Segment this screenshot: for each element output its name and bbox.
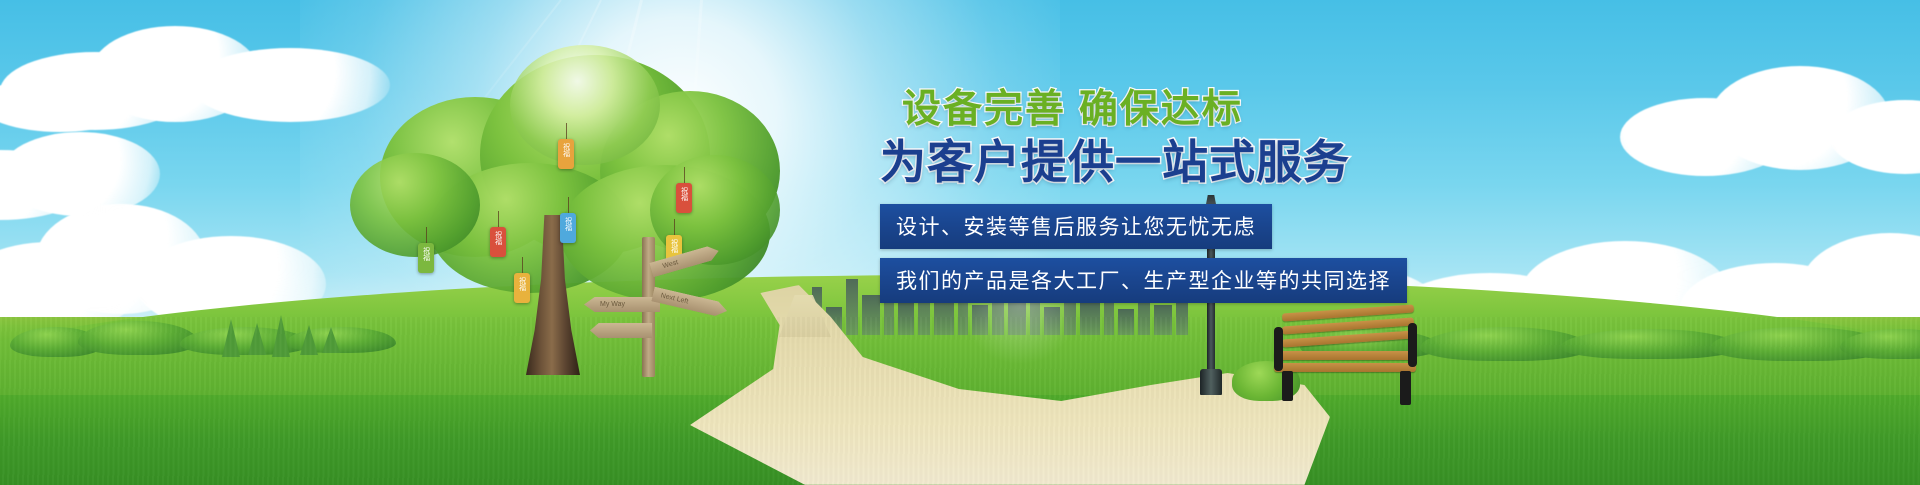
- wish-tag-label: 祝福: [494, 227, 501, 245]
- wish-tag: 祝福: [558, 139, 574, 169]
- lamp-base: [1200, 369, 1222, 395]
- cloud-right-upper: [1600, 60, 1920, 200]
- signpost-arm-west-label: West: [662, 259, 679, 270]
- wish-tag-label: 祝福: [422, 243, 429, 261]
- park-bench: [1268, 305, 1428, 405]
- signpost-arm-nextleft-label: Next Left: [660, 292, 689, 305]
- hero-banner: 祝福 祝福 祝福 祝福 祝福 祝福 祝福 West My Way Next Le…: [0, 0, 1920, 485]
- wish-tag-label: 祝福: [564, 213, 571, 231]
- headline-primary: 设备完善 确保达标: [902, 88, 1640, 133]
- grass-texture: [0, 317, 1920, 485]
- wish-tag: 祝福: [514, 273, 530, 303]
- headline-secondary: 为客户提供一站式服务: [880, 135, 1640, 190]
- subbar-service: 设计、安装等售后服务让您无忧无虑: [880, 204, 1272, 249]
- wish-tag: 祝福: [418, 243, 434, 273]
- subbar-customers: 我们的产品是各大工厂、生产型企业等的共同选择: [880, 258, 1407, 303]
- signpost-arm-myway-label: My Way: [600, 301, 625, 308]
- cloud-left-edge: [0, 120, 210, 230]
- banner-copy: 设备完善 确保达标 为客户提供一站式服务 设计、安装等售后服务让您无忧无虑 我们…: [880, 88, 1640, 303]
- signpost-arm-nextleft: Next Left: [651, 287, 728, 319]
- wish-tag-label: 祝福: [562, 139, 569, 157]
- wish-tag: 祝福: [490, 227, 506, 257]
- cloud-top-left: [0, 18, 400, 138]
- wish-tag-label: 祝福: [680, 183, 687, 201]
- signpost-arm-lower: [590, 323, 652, 338]
- wish-tag-label: 祝福: [518, 273, 525, 291]
- wish-tag: 祝福: [676, 183, 692, 213]
- signpost: West My Way Next Left: [598, 237, 728, 377]
- signpost-arm-myway: My Way: [584, 297, 660, 312]
- signpost-arm-west: West: [649, 244, 720, 278]
- wish-tag: 祝福: [560, 213, 576, 243]
